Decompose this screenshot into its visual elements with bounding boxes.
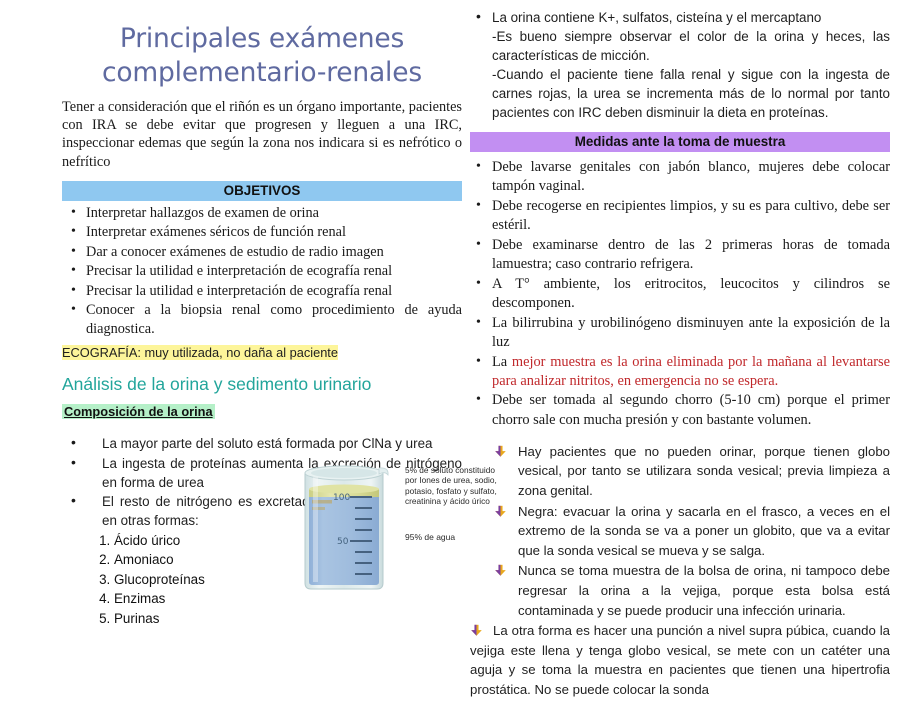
list-item: Precisar la utilidad e interpretación de… (62, 282, 462, 301)
list-item-subline: -Cuando el paciente tiene falla renal y … (492, 67, 890, 120)
list-item-text: Hay pacientes que no pueden orinar, porq… (518, 444, 890, 498)
list-item: Interpretar exámenes séricos de función … (62, 223, 462, 242)
medidas-list: Debe lavarse genitales con jabón blanco,… (470, 158, 890, 430)
list-item: Purinas (114, 609, 462, 629)
list-item: Conocer a la biopsia renal como procedim… (62, 301, 462, 339)
ecografia-highlight-note: ECOGRAFÍA: muy utilizada, no daña al pac… (62, 345, 338, 360)
list-item: Dar a conocer exámenes de estudio de rad… (62, 243, 462, 262)
orina-contiene-list: La orina contiene K+, sulfatos, cisteína… (470, 8, 890, 122)
list-item-final: La otra forma es hacer una punción a niv… (470, 621, 890, 699)
down-arrow-bullet-icon (494, 564, 507, 577)
list-item: Nunca se toma muestra de la bolsa de ori… (492, 561, 890, 620)
list-item: La bilirrubina y urobilinógeno disminuye… (470, 314, 890, 352)
list-item-red: La mejor muestra es la orina eliminada p… (470, 353, 890, 391)
sonda-subblock: Hay pacientes que no pueden orinar, porq… (492, 442, 890, 700)
list-item: Hay pacientes que no pueden orinar, porq… (492, 442, 890, 501)
list-item: La orina contiene K+, sulfatos, cisteína… (470, 8, 890, 122)
urine-composition-figure: 100 50 5% de soluto constituido por Ione… (293, 455, 493, 600)
objetivos-list: Interpretar hallazgos de examen de orina… (62, 204, 462, 340)
list-item: A T° ambiente, los eritrocitos, leucocit… (470, 275, 890, 313)
page-title: Principales exámenes complementario-rena… (62, 22, 462, 90)
list-item: Debe recogerse en recipientes limpios, y… (470, 197, 890, 235)
down-arrow-bullet-icon (470, 624, 483, 637)
list-item-text: La orina contiene K+, sulfatos, cisteína… (492, 10, 821, 25)
red-item-text: mejor muestra es la orina eliminada por … (492, 354, 890, 389)
composicion-sub-heading: Composición de la orina (62, 404, 215, 419)
list-item-subline: -Es bueno siempre observar el color de l… (492, 29, 890, 63)
list-item-text: Negra: evacuar la orina y sacarla en el … (518, 504, 890, 558)
list-item: Debe lavarse genitales con jabón blanco,… (470, 158, 890, 196)
list-item: Debe examinarse dentro de las 2 primeras… (470, 236, 890, 274)
objetivos-banner: OBJETIVOS (62, 181, 462, 201)
document-page: Principales exámenes complementario-rena… (0, 0, 905, 640)
list-item: Interpretar hallazgos de examen de orina (62, 204, 462, 223)
list-item: La mayor parte del soluto está formada p… (62, 434, 462, 453)
analisis-section-heading: Análisis de la orina y sedimento urinari… (62, 373, 462, 395)
beaker-tick-50: 50 (337, 537, 349, 547)
down-arrow-bullet-icon (494, 505, 507, 518)
final-paragraph: La otra forma es hacer una punción a niv… (470, 623, 890, 697)
list-item: Negra: evacuar la orina y sacarla en el … (492, 502, 890, 561)
list-item: Precisar la utilidad e interpretación de… (62, 262, 462, 281)
list-item: El resto de nitrógeno es excretado en ot… (62, 492, 317, 530)
sonda-arrow-list: Hay pacientes que no pueden orinar, porq… (492, 442, 890, 700)
beaker-icon: 100 50 (293, 455, 398, 595)
right-column: La orina contiene K+, sulfatos, cisteína… (470, 8, 890, 701)
medidas-banner: Medidas ante la toma de muestra (470, 132, 890, 152)
intro-paragraph: Tener a consideración que el riñón es un… (62, 98, 462, 171)
list-item-text: Nunca se toma muestra de la bolsa de ori… (518, 563, 890, 617)
down-arrow-bullet-icon (494, 445, 507, 458)
red-item-lead: La (492, 354, 512, 370)
list-item: Debe ser tomada al segundo chorro (5-10 … (470, 391, 890, 429)
beaker-image: 100 50 (293, 455, 398, 595)
beaker-tick-100: 100 (333, 493, 350, 503)
